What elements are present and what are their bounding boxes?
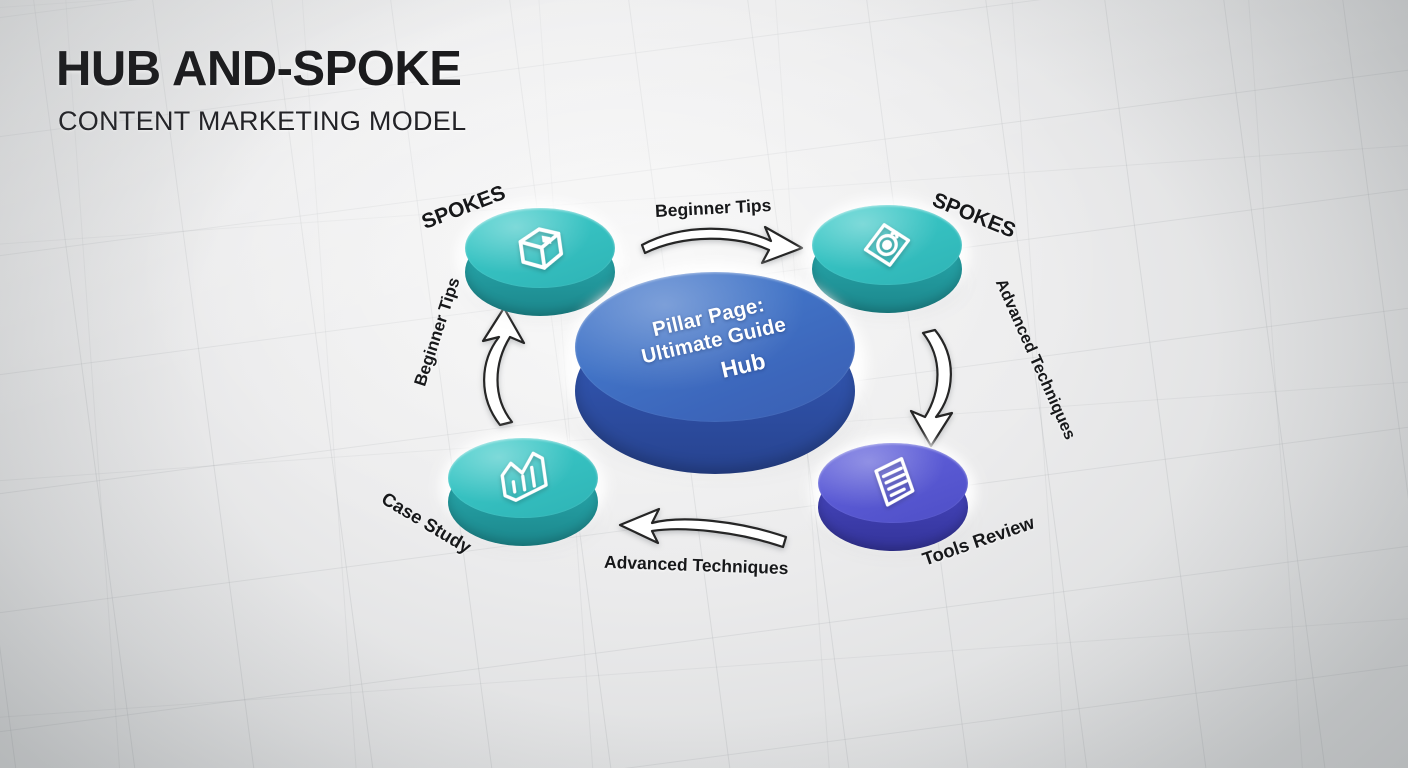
connector-arrow-right: [905, 325, 975, 450]
page-title: HUB AND-SPOKE: [56, 45, 466, 94]
header: HUB AND-SPOKE CONTENT MARKETING MODEL: [56, 45, 466, 135]
label-connector-left: Beginner Tips: [411, 275, 465, 389]
spoke-bottom-right[interactable]: [818, 443, 968, 541]
document-icon: [863, 451, 923, 516]
hub-label-group: Pillar Page: Ultimate Guide Hub: [634, 290, 796, 400]
connector-arrow-bottom: [610, 495, 790, 550]
label-connector-right: Advanced Techniques: [991, 276, 1079, 443]
hub-disc[interactable]: Pillar Page: Ultimate Guide Hub: [575, 272, 855, 457]
page-subtitle: CONTENT MARKETING MODEL: [58, 108, 466, 135]
bar-chart-icon: [493, 446, 553, 511]
camera-icon: [857, 213, 917, 278]
diagram-canvas: HUB AND-SPOKE CONTENT MARKETING MODEL: [0, 0, 1408, 768]
connector-arrow-left: [462, 305, 532, 430]
label-connector-bottom: Advanced Techniques: [604, 552, 789, 579]
hub-top: Pillar Page: Ultimate Guide Hub: [575, 272, 855, 422]
book-icon: [510, 216, 570, 281]
label-connector-top: Beginner Tips: [655, 195, 772, 222]
